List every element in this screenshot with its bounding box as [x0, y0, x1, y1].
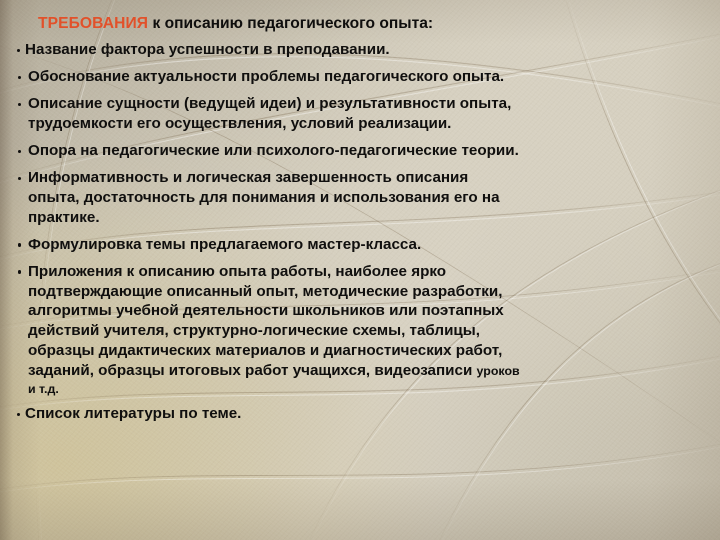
slide-content: ТРЕБОВАНИЯ к описанию педагогического оп…	[0, 0, 720, 540]
bullet-dot-icon	[18, 177, 21, 180]
bullet-line: Информативность и логическая завершеннос…	[28, 168, 706, 188]
list-item: Название фактора успешности в преподаван…	[14, 40, 706, 60]
bullet-dot-icon	[18, 103, 21, 106]
bullet-dot-icon	[18, 76, 21, 79]
bullet-line-mixed-small: уроков	[477, 364, 520, 378]
list-item: Обоснование актуальности проблемы педаго…	[14, 67, 706, 87]
bullet-dot-icon	[18, 150, 21, 153]
list-item: Формулировка темы предлагаемого мастер-к…	[14, 235, 706, 255]
bullet-line: Описание сущности (ведущей идеи) и резул…	[28, 94, 706, 114]
list-item: Приложения к описанию опыта работы, наиб…	[14, 262, 706, 398]
bullet-dot-icon	[18, 243, 21, 246]
bullet-line: Формулировка темы предлагаемого мастер-к…	[28, 235, 706, 255]
bullet-line: Обоснование актуальности проблемы педаго…	[28, 67, 706, 87]
bullet-line: Приложения к описанию опыта работы, наиб…	[28, 262, 706, 282]
bullet-line-small: и т.д.	[28, 381, 706, 397]
bullet-line-mixed: заданий, образцы итоговых работ учащихся…	[28, 361, 706, 381]
bullet-line: опыта, достаточность для понимания и исп…	[28, 188, 706, 208]
list-item: Описание сущности (ведущей идеи) и резул…	[14, 94, 706, 134]
bullet-line: Список литературы по теме.	[25, 404, 706, 424]
bullet-line: подтверждающие описанный опыт, методичес…	[28, 282, 706, 302]
list-item: Список литературы по теме.	[14, 404, 706, 424]
slide-title: ТРЕБОВАНИЯ к описанию педагогического оп…	[14, 14, 706, 33]
bullet-dot-icon	[17, 413, 20, 416]
slide-canvas: ТРЕБОВАНИЯ к описанию педагогического оп…	[0, 0, 720, 540]
title-accent-word: ТРЕБОВАНИЯ	[38, 15, 148, 32]
bullet-line: Опора на педагогические или психолого-пе…	[28, 141, 706, 161]
list-item: Опора на педагогические или психолого-пе…	[14, 141, 706, 161]
bullet-line: образцы дидактических материалов и диагн…	[28, 341, 706, 361]
list-item: Информативность и логическая завершеннос…	[14, 168, 706, 228]
bullet-line: Название фактора успешности в преподаван…	[25, 40, 706, 60]
bullet-line-mixed-main: заданий, образцы итоговых работ учащихся…	[28, 362, 472, 379]
title-remainder: к описанию педагогического опыта:	[152, 15, 433, 32]
bullet-line: алгоритмы учебной деятельности школьнико…	[28, 301, 706, 321]
bullet-dot-icon	[18, 270, 21, 273]
bullet-line: действий учителя, структурно-логические …	[28, 321, 706, 341]
requirements-list: Название фактора успешности в преподаван…	[14, 40, 706, 424]
bullet-line: практике.	[28, 208, 706, 228]
bullet-line: трудоемкости его осуществления, условий …	[28, 114, 706, 134]
bullet-dot-icon	[17, 49, 20, 52]
